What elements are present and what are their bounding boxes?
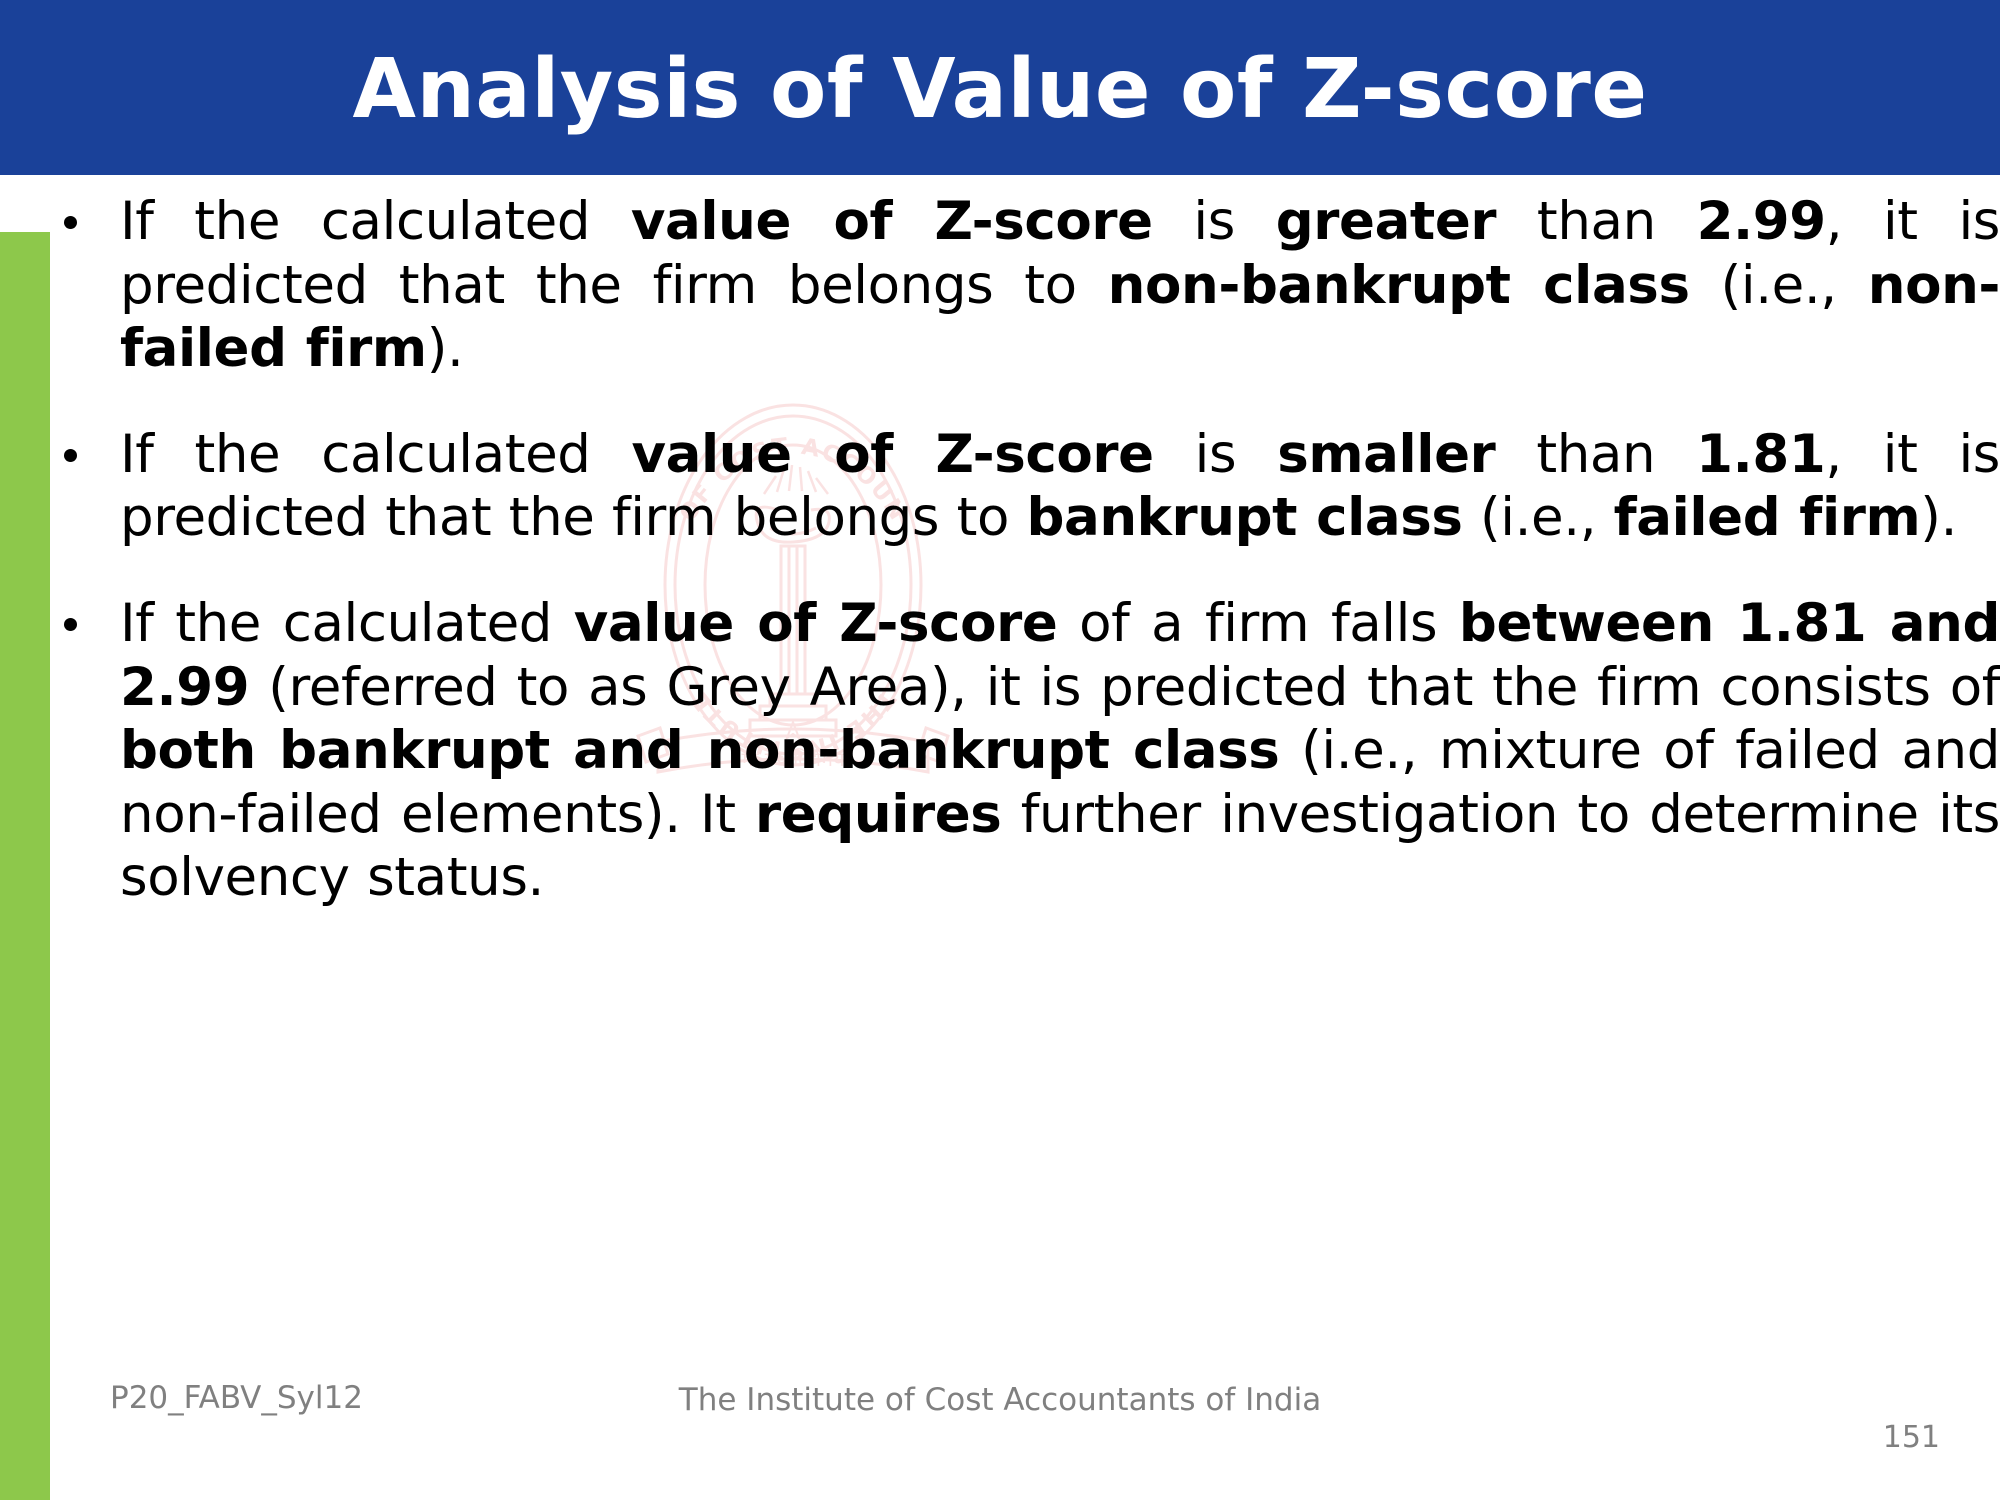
left-accent-bar [0,232,50,1500]
bullet-dot-icon [64,618,77,631]
bullet-item-2: If the calculated value of Z-score is sm… [50,423,2000,550]
bullet-item-1: If the calculated value of Z-score is gr… [50,190,2000,381]
slide-page-number: 151 [1883,1420,1940,1455]
slide-body: If the calculated value of Z-score is gr… [50,190,2000,1370]
slide-footer: P20_FABV_Syl12 The Institute of Cost Acc… [0,1380,2000,1500]
slide-title-bar: Analysis of Value of Z-score [0,0,2000,175]
page-title: Analysis of Value of Z-score [353,49,1648,131]
bullet-dot-icon [64,449,77,462]
bullet-dot-icon [64,216,77,229]
slide: Analysis of Value of Z-score OF COST ACC… [0,0,2000,1500]
bullet-text-2: If the calculated value of Z-score is sm… [120,424,2000,549]
bullet-list: If the calculated value of Z-score is gr… [50,190,2000,910]
bullet-text-1: If the calculated value of Z-score is gr… [120,191,2000,379]
bullet-text-3: If the calculated value of Z-score of a … [120,593,2000,908]
bullet-item-3: If the calculated value of Z-score of a … [50,592,2000,910]
footer-institute-name: The Institute of Cost Accountants of Ind… [0,1382,2000,1418]
